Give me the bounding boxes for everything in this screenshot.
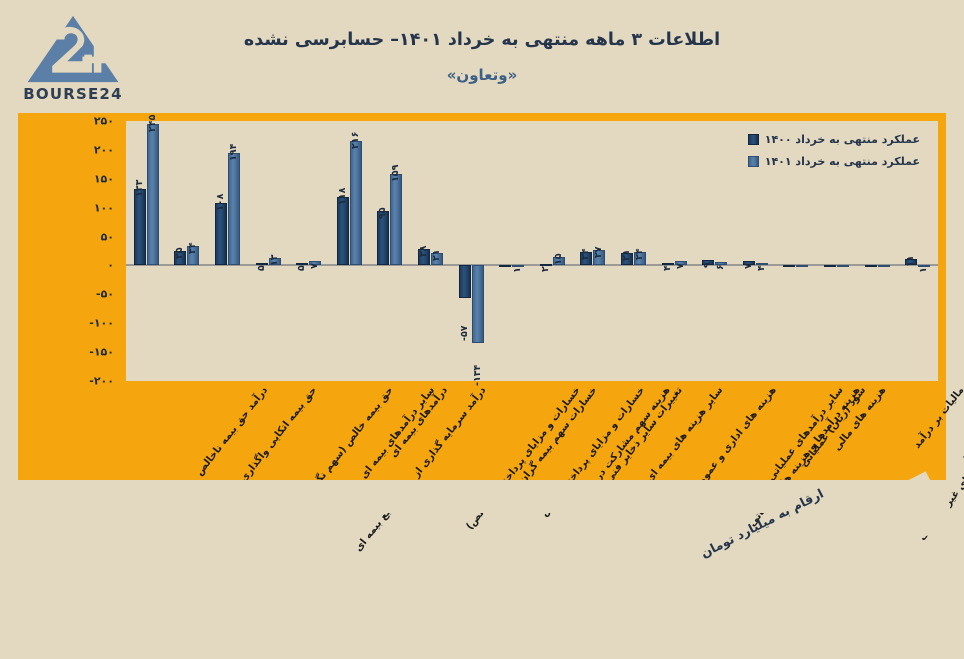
bar-value-label: ۵ — [256, 265, 267, 271]
bar-group: ۲۴۲۷ — [573, 121, 614, 381]
bar-value-label: ۲۷ — [593, 246, 604, 258]
chart-legend: عملکرد منتهی به خرداد ۱۴۰۰عملکرد منتهی ب… — [748, 133, 920, 168]
bar-group: ۴۷ — [654, 121, 695, 381]
bar-value-label: ۹ — [702, 262, 713, 268]
bar-group: ۱۰۸۱۹۴ — [207, 121, 248, 381]
bar-series2[interactable] — [147, 124, 159, 266]
bar-value-label: -۵۷ — [459, 326, 470, 342]
x-axis-category-label: مالیات بر درآمد — [912, 385, 964, 451]
bar-value-label: ۷ — [743, 264, 754, 270]
bar-fill — [228, 153, 240, 265]
legend-item: عملکرد منتهی به خرداد ۱۴۰۱ — [748, 155, 920, 168]
bar-fill — [824, 265, 836, 267]
bar-value-label: ۲۴ — [580, 248, 591, 260]
bar-series2[interactable] — [350, 141, 362, 266]
chart-screenshot: BOURSE24 اطلاعات ۳ ماهه منتهی به خرداد ۱… — [0, 0, 964, 546]
bar-value-label: ۱۱ — [905, 255, 916, 267]
bar-series1[interactable] — [215, 203, 227, 265]
bar-value-label: ۹۵ — [377, 207, 388, 219]
bar-value-label: ۵ — [296, 265, 307, 271]
bar-value-label: ۲۱ — [621, 250, 632, 262]
bar-series1[interactable] — [459, 265, 471, 298]
bar-series2[interactable] — [837, 265, 849, 267]
bar-value-label: ۲۴۵ — [147, 114, 158, 131]
bar-series1[interactable] — [824, 265, 836, 267]
bar-fill — [337, 197, 349, 265]
legend-label: عملکرد منتهی به خرداد ۱۴۰۱ — [765, 155, 920, 168]
brand-name: BOURSE24 — [18, 85, 128, 103]
plot-area: ۱۳۳۲۴۵۲۵۳۴۱۰۸۱۹۴۵۱۳۵۷۱۱۸۲۱۶۹۵۱۵۹۲۸۲۱-۵۷-… — [126, 121, 938, 381]
brand-logo: BOURSE24 — [18, 14, 128, 106]
bar-fill — [796, 265, 808, 267]
y-axis-tick: ۱۵۰ — [94, 172, 114, 185]
legend-swatch-icon — [748, 134, 759, 145]
bar-value-label: ۱ — [512, 267, 523, 273]
bar-value-label: ۱۵۹ — [390, 164, 401, 181]
bar-value-label: ۲۱ — [431, 250, 442, 262]
bar-value-label: ۱۹۴ — [228, 144, 239, 161]
bar-value-label: ۳۴ — [187, 242, 198, 254]
bar-group: ۲۱۵ — [532, 121, 573, 381]
bar-series1[interactable] — [499, 265, 511, 267]
bar-value-label: ۲ — [540, 266, 551, 272]
bar-value-label: ۱۳۳ — [134, 179, 145, 196]
bar-value-label: -۱۳۴ — [472, 365, 483, 386]
bar-series2[interactable] — [878, 265, 890, 267]
bar-value-label: ۱۱۸ — [337, 188, 348, 205]
bar-value-label: ۱۵ — [553, 253, 564, 265]
y-axis-tick: ۱۰۰ — [94, 201, 114, 214]
bar-group: -۵۷-۱۳۴ — [451, 121, 492, 381]
bar-value-label: ۷ — [309, 264, 320, 270]
bar-series1[interactable] — [337, 197, 349, 265]
page-subtitle: «وتعاون» — [0, 66, 964, 84]
bar-group: ۵۱۳ — [248, 121, 289, 381]
bar-value-label: ۶ — [715, 264, 726, 270]
bar-fill — [472, 265, 484, 342]
bar-group: ۱۱۸۲۱۶ — [329, 121, 370, 381]
bar-value-label: ۲۵ — [174, 247, 185, 259]
bar-group: ۵۷ — [288, 121, 329, 381]
bar-fill — [215, 203, 227, 265]
bar-fill — [147, 124, 159, 266]
bar-fill — [459, 265, 471, 298]
x-axis-category-label: تغییرات سایر ذخایر فنی — [604, 385, 685, 485]
legend-label: عملکرد منتهی به خرداد ۱۴۰۰ — [765, 133, 920, 146]
chart-panel: ۲۵۰۲۰۰۱۵۰۱۰۰۵۰۰-۵۰-۱۰۰-۱۵۰-۲۰۰ ۱۳۳۲۴۵۲۵۳… — [18, 113, 946, 513]
legend-item: عملکرد منتهی به خرداد ۱۴۰۰ — [748, 133, 920, 146]
bar-value-label: ۴ — [756, 265, 767, 271]
bar-value-label: ۲۱۶ — [350, 131, 361, 148]
bar-series1[interactable] — [783, 265, 795, 267]
bar-value-label: ۱ — [918, 267, 929, 273]
bar-value-label: ۱۳ — [269, 254, 280, 266]
y-axis-tick: ۲۵۰ — [94, 115, 114, 128]
bar-fill — [350, 141, 362, 266]
bar-series2[interactable] — [228, 153, 240, 265]
bar-group: ۹۶ — [694, 121, 735, 381]
bar-value-label: ۷ — [675, 264, 686, 270]
bar-fill — [390, 174, 402, 266]
page-title: اطلاعات ۳ ماهه منتهی به خرداد ۱۴۰۱– حساب… — [0, 30, 964, 50]
y-axis-tick: ۰ — [107, 259, 114, 272]
bar-group: ۲۱۲۴ — [613, 121, 654, 381]
bar-series1[interactable] — [134, 189, 146, 266]
y-axis-tick: ۲۰۰ — [94, 143, 114, 156]
bar-fill — [134, 189, 146, 266]
y-axis-tick: -۱۵۰ — [89, 346, 114, 359]
bar-series2[interactable] — [390, 174, 402, 266]
bar-group: ۱ — [491, 121, 532, 381]
bar-fill — [865, 265, 877, 267]
bar-fill — [837, 265, 849, 267]
y-axis-tick: -۲۰۰ — [89, 375, 114, 388]
y-axis-tick: -۱۰۰ — [89, 317, 114, 330]
bar-series1[interactable] — [865, 265, 877, 267]
bar-group: ۲۵۳۴ — [167, 121, 208, 381]
bar-value-label: ۲۸ — [418, 246, 429, 258]
y-axis: ۲۵۰۲۰۰۱۵۰۱۰۰۵۰۰-۵۰-۱۰۰-۱۵۰-۲۰۰ — [18, 121, 122, 381]
bar-fill — [783, 265, 795, 267]
bar-fill — [499, 265, 511, 267]
bar-value-label: ۲۴ — [634, 248, 645, 260]
bar-fill — [878, 265, 890, 267]
bar-group: ۲۸۲۱ — [410, 121, 451, 381]
bar-value-label: ۱۰۸ — [215, 194, 226, 211]
y-axis-tick: -۵۰ — [96, 288, 114, 301]
bar-series2[interactable] — [796, 265, 808, 267]
y-axis-tick: ۵۰ — [101, 230, 114, 243]
bar-group: ۹۵۱۵۹ — [370, 121, 411, 381]
bar-value-label: ۴ — [662, 265, 673, 271]
bar-series2[interactable] — [472, 265, 484, 342]
bar-group: ۱۳۳۲۴۵ — [126, 121, 167, 381]
legend-swatch-icon — [748, 156, 759, 167]
